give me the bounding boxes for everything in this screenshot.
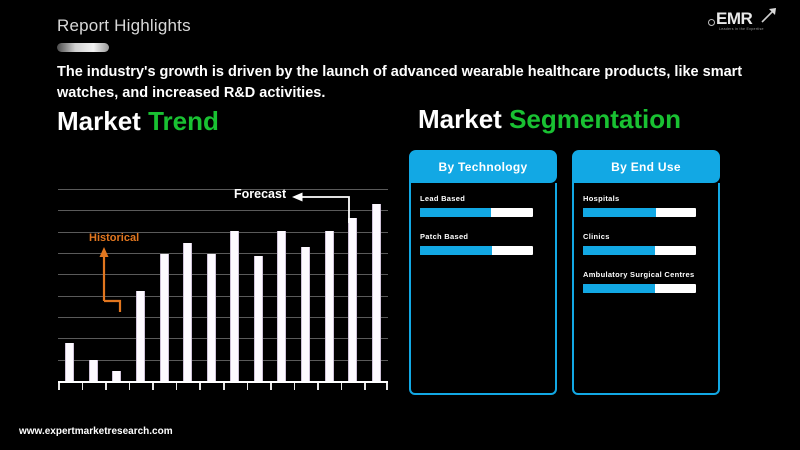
market-trend-title-word1: Market xyxy=(57,106,141,136)
segment-progress-fill xyxy=(583,246,655,255)
chart-x-tick xyxy=(270,383,272,390)
footer-website-url: www.expertmarketresearch.com xyxy=(19,426,173,437)
chart-x-tick xyxy=(199,383,201,390)
market-segmentation-title-word1: Market xyxy=(418,104,502,134)
chart-x-tick xyxy=(317,383,319,390)
segment-item: Lead Based xyxy=(420,194,546,217)
panel-header-by-technology: By Technology xyxy=(409,150,557,183)
panel-header-by-end-use: By End Use xyxy=(572,150,720,183)
chart-x-tick xyxy=(152,383,154,390)
market-trend-bar-chart: Historical Forecast xyxy=(58,189,388,392)
segment-label: Patch Based xyxy=(420,232,546,241)
chart-x-tick xyxy=(176,383,178,390)
market-segmentation-title: Market Segmentation xyxy=(418,104,681,135)
segment-item: Clinics xyxy=(583,232,709,255)
chart-x-tick xyxy=(82,383,84,390)
segment-progress-track xyxy=(583,208,696,217)
forecast-annotation-arrow xyxy=(58,189,388,392)
title-accent-bar xyxy=(57,43,109,52)
emr-logo: EMR Leaders in the Expertise xyxy=(708,6,786,36)
segment-progress-fill xyxy=(583,208,656,217)
segment-label: Lead Based xyxy=(420,194,546,203)
segment-progress-fill xyxy=(420,246,492,255)
headline-text: The industry's growth is driven by the l… xyxy=(57,62,757,104)
segment-progress-track xyxy=(420,208,533,217)
chart-x-tick xyxy=(247,383,249,390)
logo-circle-icon xyxy=(708,19,715,26)
segment-item: Patch Based xyxy=(420,232,546,255)
segment-progress-track xyxy=(583,284,696,293)
segment-progress-track xyxy=(420,246,533,255)
panel-body-by-technology: Lead Based Patch Based xyxy=(409,183,557,395)
chart-x-tick xyxy=(294,383,296,390)
logo-tagline: Leaders in the Expertise xyxy=(719,27,764,31)
market-segmentation-title-word2: Segmentation xyxy=(509,104,681,134)
market-trend-title-word2: Trend xyxy=(148,106,219,136)
market-trend-title: Market Trend xyxy=(57,106,219,137)
growth-arrow-icon xyxy=(760,6,782,24)
panel-body-by-end-use: Hospitals Clinics Ambulatory Surgical Ce… xyxy=(572,183,720,395)
segment-label: Hospitals xyxy=(583,194,709,203)
chart-x-tick xyxy=(129,383,131,390)
chart-x-tick xyxy=(223,383,225,390)
chart-x-tick xyxy=(364,383,366,390)
segmentation-panel-by-technology: By Technology Lead Based Patch Based xyxy=(409,150,557,395)
chart-x-tick xyxy=(386,383,388,390)
segment-label: Clinics xyxy=(583,232,709,241)
segment-progress-fill xyxy=(420,208,491,217)
segment-progress-fill xyxy=(583,284,655,293)
chart-x-tick xyxy=(105,383,107,390)
page-title: Report Highlights xyxy=(57,16,191,36)
chart-x-tick xyxy=(341,383,343,390)
segmentation-panel-by-end-use: By End Use Hospitals Clinics Ambulatory … xyxy=(572,150,720,395)
chart-x-tick xyxy=(58,383,60,390)
segment-item: Hospitals xyxy=(583,194,709,217)
segment-label: Ambulatory Surgical Centres xyxy=(583,270,709,279)
segment-item: Ambulatory Surgical Centres xyxy=(583,270,709,293)
segment-progress-track xyxy=(583,246,696,255)
